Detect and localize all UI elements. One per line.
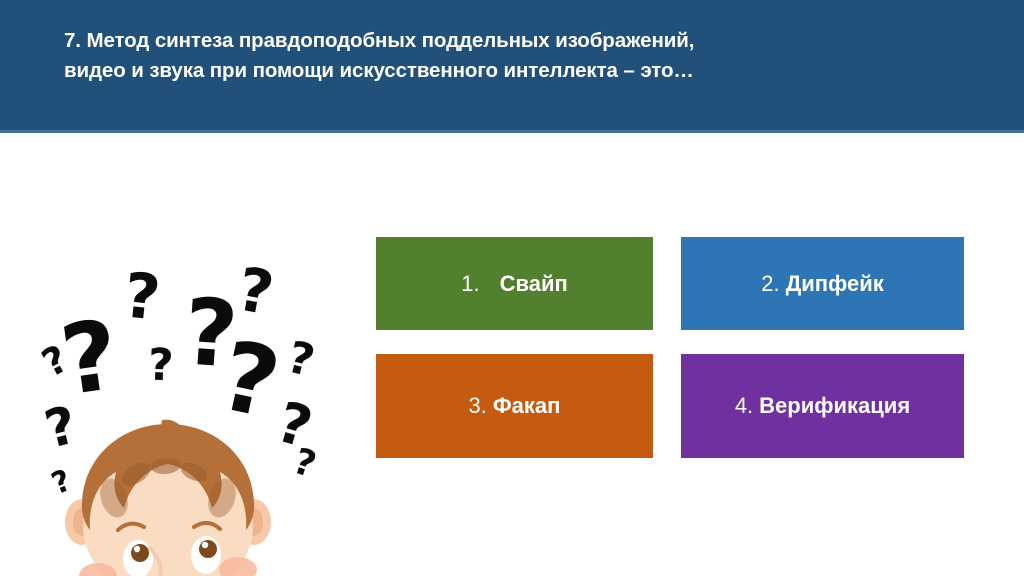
page-title: 7. Метод синтеза правдоподобных поддельн… <box>64 26 964 86</box>
question-mark-icon: ? <box>56 307 125 410</box>
answer-option-1-content: 1. Свайп <box>461 271 568 297</box>
answer-option-1-label: Свайп <box>500 271 568 297</box>
answer-option-4[interactable]: 4. Верификация <box>681 354 964 458</box>
answer-option-3-content: 3. Факап <box>469 393 561 419</box>
answer-option-3[interactable]: 3. Факап <box>376 354 653 458</box>
answer-option-2[interactable]: 2. Дипфейк <box>681 237 964 330</box>
answer-option-3-label: Факап <box>493 393 561 419</box>
question-mark-icon: ? <box>121 264 163 329</box>
answer-option-4-number: 4. <box>735 393 753 419</box>
answer-option-4-label: Верификация <box>759 393 910 419</box>
answer-option-1-number: 1. <box>461 271 479 297</box>
answer-option-2-label: Дипфейк <box>786 271 884 297</box>
answer-option-3-number: 3. <box>469 393 487 419</box>
quiz-slide: 7. Метод синтеза правдоподобных поддельн… <box>0 0 1024 576</box>
question-mark-icon: ? <box>283 336 318 385</box>
boy-figure-icon <box>54 418 286 576</box>
answer-option-1[interactable]: 1. Свайп <box>376 237 653 330</box>
answer-option-4-content: 4. Верификация <box>735 393 910 419</box>
header-band-underline <box>0 130 1024 133</box>
question-mark-icon: ? <box>233 259 278 324</box>
question-mark-icon: ? <box>147 344 174 389</box>
answer-option-2-content: 2. Дипфейк <box>761 271 884 297</box>
confused-boy-illustration: ???????????? <box>26 250 356 576</box>
answer-option-2-number: 2. <box>761 271 779 297</box>
